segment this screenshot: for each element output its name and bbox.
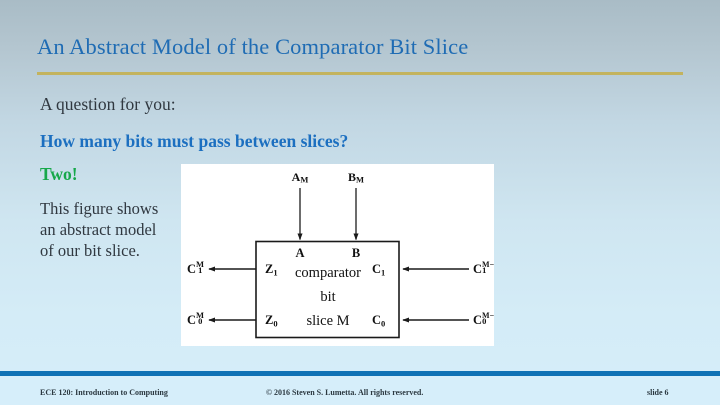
description-text: This figure shows an abstract model of o… [40, 198, 172, 261]
port-label-z1-base: Z [265, 262, 273, 276]
port-label-z0-sub: 0 [273, 319, 277, 329]
block-name-line2: bit [320, 289, 335, 305]
label-c1-m1-in-sub: 1 [482, 265, 486, 275]
port-label-c1-sub: 1 [381, 268, 385, 278]
label-c0-m-out-base: C [187, 313, 196, 327]
label-c1-m-out: CM1 [187, 259, 204, 276]
title-underline-rule [37, 72, 683, 75]
port-label-z0: Z0 [265, 313, 278, 329]
label-c0-m-out: CM0 [187, 310, 204, 327]
label-c0-m-out-sub: 0 [198, 316, 202, 326]
page-title: An Abstract Model of the Comparator Bit … [37, 34, 687, 60]
label-c1-m1-in-base: C [473, 262, 482, 276]
port-label-z0-base: Z [265, 313, 273, 327]
port-label-c1-base: C [372, 262, 381, 276]
port-label-z1: Z1 [265, 262, 278, 278]
answer-text: Two! [40, 164, 78, 185]
label-b-m: BM [348, 170, 364, 185]
label-c1-m-out-sub: 1 [198, 265, 202, 275]
label-a-m: AM [292, 170, 309, 185]
label-a-m-sub: M [300, 175, 308, 185]
prompt-text: How many bits must pass between slices? [40, 131, 348, 152]
comparator-diagram-svg: AM BM CM1 CM0 CM−11 CM−10 A B [181, 164, 494, 346]
label-c0-m1-in-sub: 0 [482, 316, 486, 326]
label-c1-m-out-base: C [187, 262, 196, 276]
comparator-bit-slice-figure: AM BM CM1 CM0 CM−11 CM−10 A B [181, 164, 494, 346]
port-label-z1-sub: 1 [273, 268, 277, 278]
block-name-line1: comparator [295, 265, 361, 281]
block-name-line3: slice M [306, 313, 349, 329]
port-label-c0: C0 [372, 313, 385, 329]
slide-canvas: An Abstract Model of the Comparator Bit … [0, 0, 720, 405]
port-label-a: A [295, 246, 304, 260]
port-label-b: B [352, 246, 360, 260]
footer-copyright-label: © 2016 Steven S. Lumetta. All rights res… [266, 388, 423, 397]
label-c0-m1-in: CM−10 [473, 311, 494, 327]
label-b-m-base: B [348, 170, 356, 184]
label-a-m-base: A [292, 170, 301, 184]
port-label-c0-base: C [372, 313, 381, 327]
port-label-c1: C1 [372, 262, 385, 278]
question-text: A question for you: [40, 94, 176, 115]
label-b-m-sub: M [356, 175, 364, 185]
port-label-c0-sub: 0 [381, 319, 385, 329]
footer-slide-number: slide 6 [647, 388, 669, 397]
footer-course-label: ECE 120: Introduction to Computing [40, 388, 168, 397]
label-c1-m1-in: CM−11 [473, 260, 494, 276]
label-c0-m1-in-base: C [473, 313, 482, 327]
